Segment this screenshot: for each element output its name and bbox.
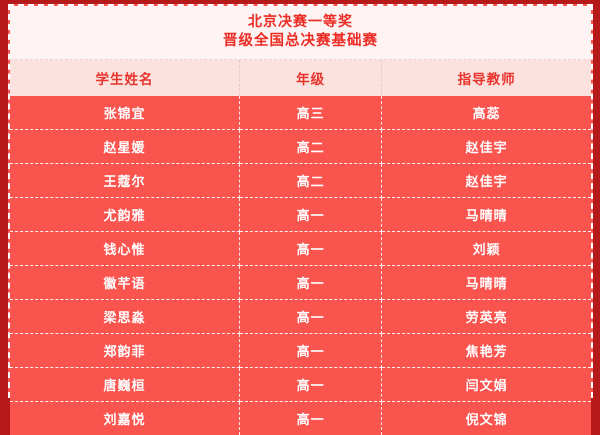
table-row: 刘嘉悦高一倪文锦 xyxy=(10,402,591,435)
table-row: 王蔻尔高二赵佳宇 xyxy=(10,164,591,198)
grade-cell: 高一 xyxy=(239,300,381,334)
table-body: 张锦宜高三高蕊赵星媛高二赵佳宇王蔻尔高二赵佳宇尤韵雅高一马晴晴钱心惟高一刘颖徽芊… xyxy=(10,96,591,435)
grade-cell: 高一 xyxy=(239,232,381,266)
grade-cell: 高二 xyxy=(239,164,381,198)
student-name-cell: 唐巍桓 xyxy=(10,368,239,402)
award-winners-table: 学生姓名 年级 指导教师 张锦宜高三高蕊赵星媛高二赵佳宇王蔻尔高二赵佳宇尤韵雅高… xyxy=(10,60,591,435)
teacher-cell: 马晴晴 xyxy=(382,266,591,300)
teacher-cell: 赵佳宇 xyxy=(382,130,591,164)
teacher-cell: 劳英亮 xyxy=(382,300,591,334)
student-name-cell: 郑韵菲 xyxy=(10,334,239,368)
column-header-grade: 年级 xyxy=(239,60,381,96)
table-row: 唐巍桓高一闫文娟 xyxy=(10,368,591,402)
teacher-cell: 闫文娟 xyxy=(382,368,591,402)
student-name-cell: 张锦宜 xyxy=(10,96,239,130)
column-header-student-name: 学生姓名 xyxy=(10,60,239,96)
student-name-cell: 王蔻尔 xyxy=(10,164,239,198)
table-row: 郑韵菲高一焦艳芳 xyxy=(10,334,591,368)
student-name-cell: 徽芊语 xyxy=(10,266,239,300)
table-row: 赵星媛高二赵佳宇 xyxy=(10,130,591,164)
teacher-cell: 倪文锦 xyxy=(382,402,591,435)
grade-cell: 高一 xyxy=(239,334,381,368)
teacher-cell: 马晴晴 xyxy=(382,198,591,232)
table-row: 梁思淼高一劳英亮 xyxy=(10,300,591,334)
teacher-cell: 赵佳宇 xyxy=(382,164,591,198)
table-header: 学生姓名 年级 指导教师 xyxy=(10,60,591,96)
table-row: 徽芊语高一马晴晴 xyxy=(10,266,591,300)
award-poster-frame: 北京决赛一等奖 晋级全国总决赛基础赛 学生姓名 年级 指导教师 张锦宜高三高蕊赵… xyxy=(0,0,600,410)
grade-cell: 高二 xyxy=(239,130,381,164)
student-name-cell: 钱心惟 xyxy=(10,232,239,266)
table-row: 尤韵雅高一马晴晴 xyxy=(10,198,591,232)
grade-cell: 高一 xyxy=(239,198,381,232)
title-block: 北京决赛一等奖 晋级全国总决赛基础赛 xyxy=(10,6,591,60)
student-name-cell: 赵星媛 xyxy=(10,130,239,164)
grade-cell: 高一 xyxy=(239,266,381,300)
student-name-cell: 尤韵雅 xyxy=(10,198,239,232)
table-row: 钱心惟高一刘颖 xyxy=(10,232,591,266)
grade-cell: 高一 xyxy=(239,402,381,435)
teacher-cell: 高蕊 xyxy=(382,96,591,130)
table-row: 张锦宜高三高蕊 xyxy=(10,96,591,130)
teacher-cell: 刘颖 xyxy=(382,232,591,266)
student-name-cell: 刘嘉悦 xyxy=(10,402,239,435)
title-line-primary: 北京决赛一等奖 xyxy=(10,13,591,32)
teacher-cell: 焦艳芳 xyxy=(382,334,591,368)
award-card: 北京决赛一等奖 晋级全国总决赛基础赛 学生姓名 年级 指导教师 张锦宜高三高蕊赵… xyxy=(8,4,593,398)
grade-cell: 高一 xyxy=(239,368,381,402)
column-header-teacher: 指导教师 xyxy=(382,60,591,96)
title-line-secondary: 晋级全国总决赛基础赛 xyxy=(10,32,591,51)
student-name-cell: 梁思淼 xyxy=(10,300,239,334)
grade-cell: 高三 xyxy=(239,96,381,130)
table-header-row: 学生姓名 年级 指导教师 xyxy=(10,60,591,96)
